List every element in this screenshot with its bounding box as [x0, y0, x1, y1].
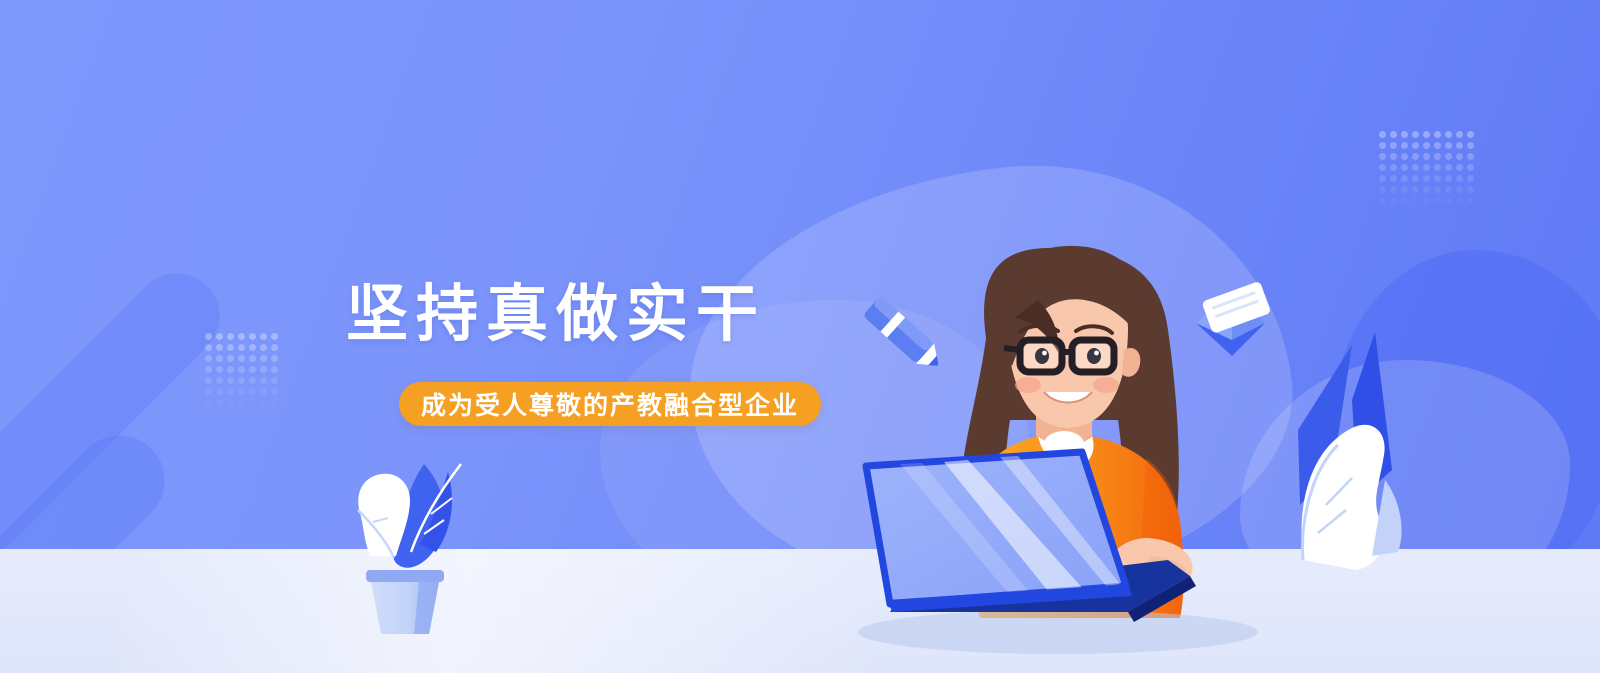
illustration-group [0, 0, 1600, 673]
potted-plant [358, 464, 461, 634]
page-title: 坚持真做实干 [346, 284, 766, 346]
pencil-icon [863, 296, 948, 376]
envelope-icon [1196, 281, 1271, 356]
hero-banner: 坚持真做实干 成为受人尊敬的产教融合型企业 [0, 0, 1600, 673]
laptop [858, 452, 1258, 654]
subtitle-pill: 成为受人尊敬的产教融合型企业 [399, 382, 821, 426]
leaf-right-icon [1298, 332, 1402, 570]
